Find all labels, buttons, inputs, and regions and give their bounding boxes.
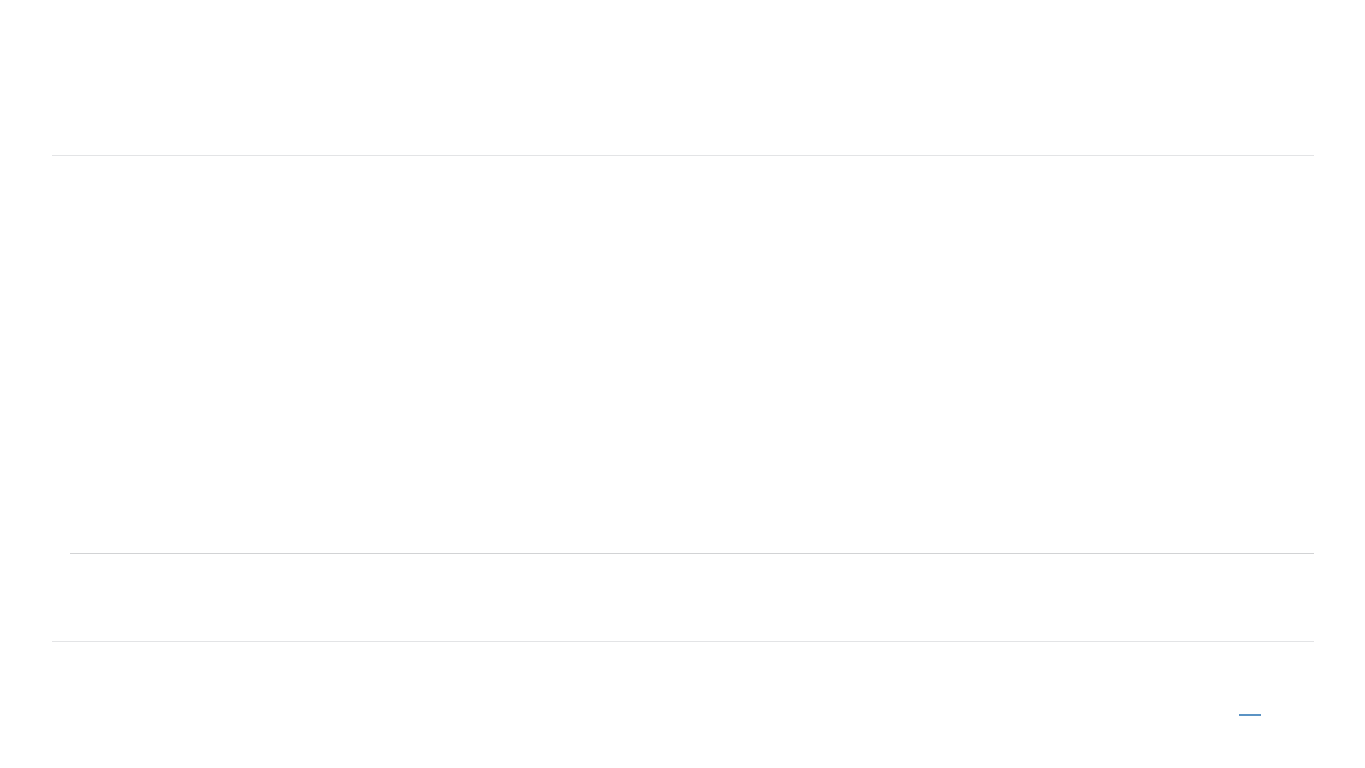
footer-meta (1225, 714, 1313, 716)
header-divider (52, 155, 1314, 156)
bar-series-container (52, 175, 1314, 553)
x-axis-line (70, 553, 1314, 554)
slide (0, 0, 1365, 768)
chart-plot-area (52, 175, 1314, 553)
liquidity-stacked-bar-chart (52, 175, 1314, 555)
footer-divider (52, 641, 1314, 642)
footer-dash-divider (1239, 714, 1261, 716)
